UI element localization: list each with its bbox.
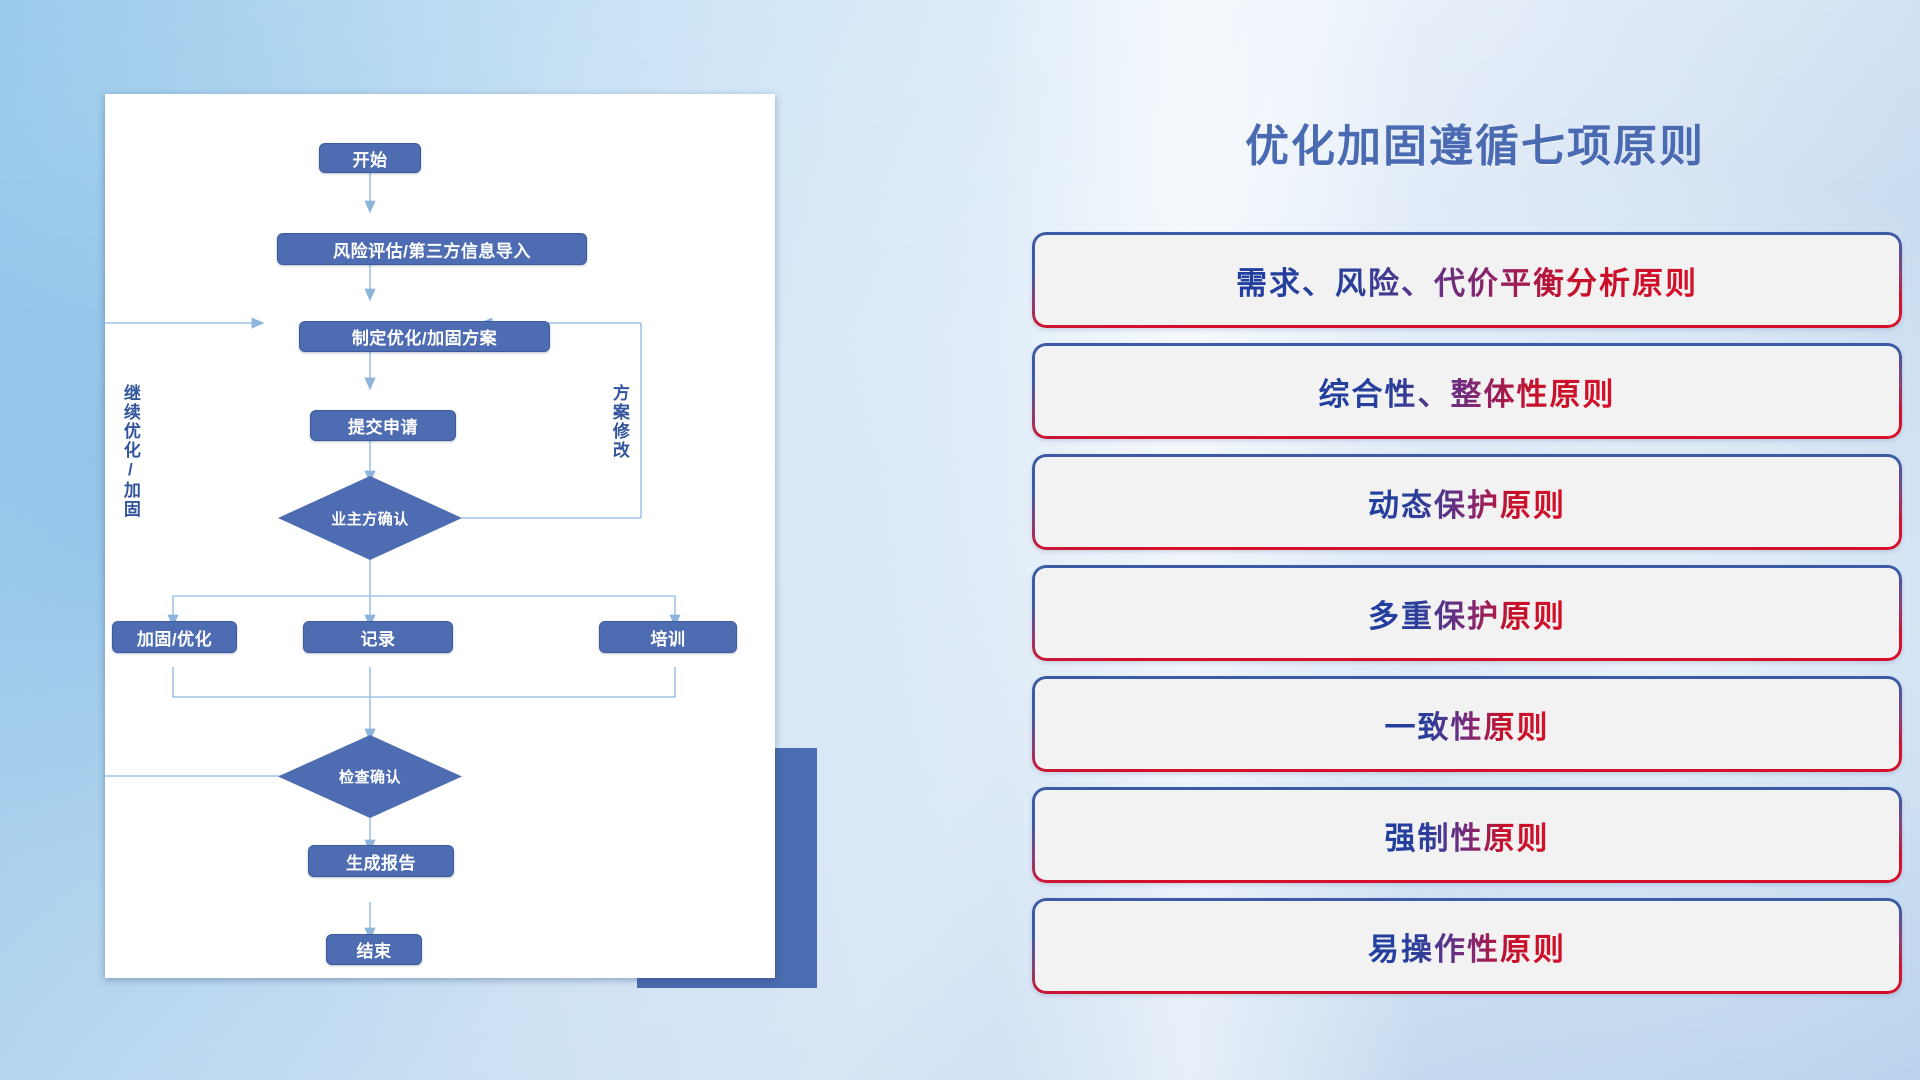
principle-card-7[interactable]: 易操作性原则 [1032, 898, 1902, 994]
flow-node-reinforce-optimize[interactable]: 加固/优化 [112, 621, 237, 653]
principles-list: 需求、风险、代价平衡分析原则 综合性、整体性原则 动态保护原则 多重保护原则 一… [1032, 232, 1902, 1009]
principles-title: 优化加固遵循七项原则 [1155, 110, 1795, 174]
principle-label: 一致性原则 [1385, 702, 1550, 747]
principle-card-2[interactable]: 综合性、整体性原则 [1032, 343, 1902, 439]
principle-card-5[interactable]: 一致性原则 [1032, 676, 1902, 772]
principle-card-3[interactable]: 动态保护原则 [1032, 454, 1902, 550]
flow-node-plan[interactable]: 制定优化/加固方案 [299, 321, 550, 352]
flow-node-start[interactable]: 开始 [319, 143, 421, 173]
principle-card-6[interactable]: 强制性原则 [1032, 787, 1902, 883]
principle-label: 需求、风险、代价平衡分析原则 [1236, 258, 1698, 303]
flow-node-generate-report[interactable]: 生成报告 [308, 845, 454, 877]
edge-label-continue-optimize: 继续优化/加固 [121, 384, 139, 544]
principle-label: 动态保护原则 [1368, 480, 1566, 525]
flow-node-record[interactable]: 记录 [303, 621, 453, 653]
principle-label: 易操作性原则 [1368, 924, 1566, 969]
edge-label-plan-revision: 方案修改 [610, 384, 628, 494]
principle-card-4[interactable]: 多重保护原则 [1032, 565, 1902, 661]
principle-card-1[interactable]: 需求、风险、代价平衡分析原则 [1032, 232, 1902, 328]
flow-node-end[interactable]: 结束 [326, 934, 422, 965]
flowchart-diagram: 开始 风险评估/第三方信息导入 制定优化/加固方案 提交申请 业主方确认 加固/… [105, 94, 775, 978]
flowchart-card: 开始 风险评估/第三方信息导入 制定优化/加固方案 提交申请 业主方确认 加固/… [105, 94, 775, 978]
flow-node-risk-assessment[interactable]: 风险评估/第三方信息导入 [277, 233, 587, 265]
flow-node-submit-application[interactable]: 提交申请 [310, 410, 456, 441]
flow-node-training[interactable]: 培训 [599, 621, 737, 653]
principle-label: 多重保护原则 [1368, 591, 1566, 636]
flowchart-panel: 开始 风险评估/第三方信息导入 制定优化/加固方案 提交申请 业主方确认 加固/… [0, 0, 830, 1080]
principles-panel: 优化加固遵循七项原则 需求、风险、代价平衡分析原则 综合性、整体性原则 动态保护… [1010, 0, 1920, 1080]
principle-label: 强制性原则 [1385, 813, 1550, 858]
principle-label: 综合性、整体性原则 [1319, 369, 1616, 414]
